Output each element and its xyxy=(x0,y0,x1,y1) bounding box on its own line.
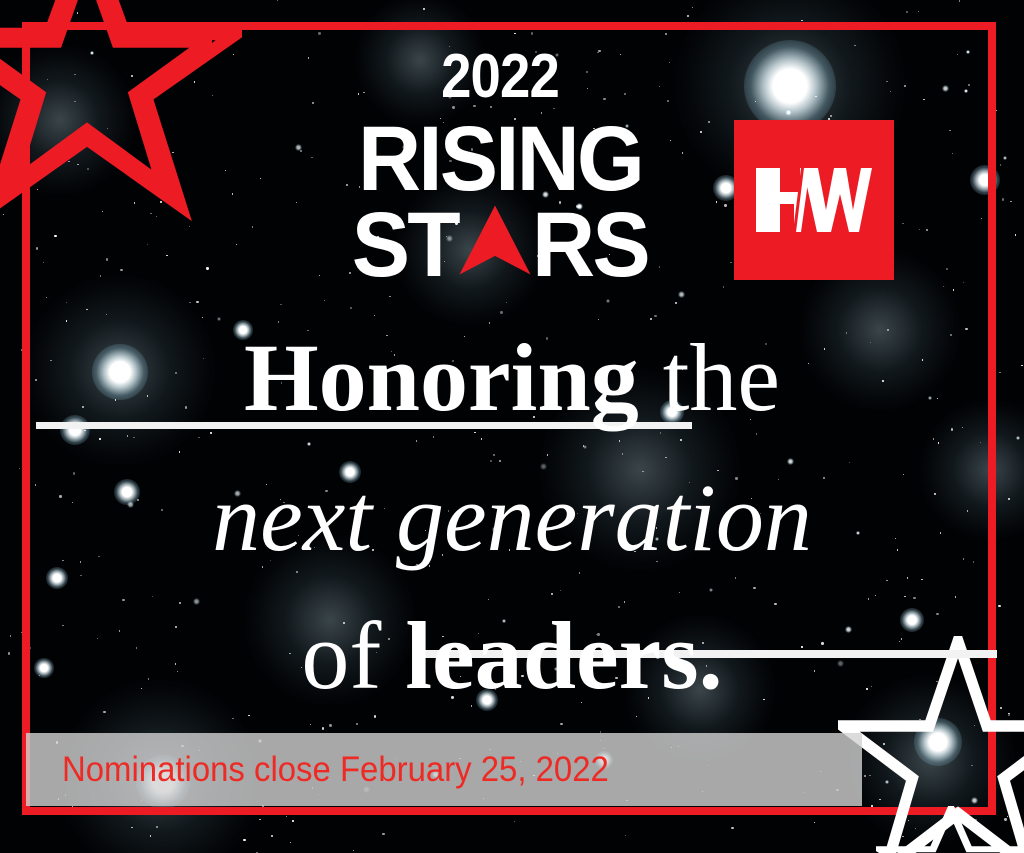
red-chevron-arrow-icon xyxy=(458,204,532,276)
nominations-deadline-text: Nominations close February 25, 2022 xyxy=(62,750,609,790)
stars-suffix: RS xyxy=(532,200,648,290)
tagline-line-3: of leaders. xyxy=(0,608,1024,704)
tagline-leaders: leaders. xyxy=(405,602,722,709)
nominations-banner: Nominations close February 25, 2022 xyxy=(26,733,862,806)
tagline-block: Honoring the next generation of leaders. xyxy=(0,330,1024,704)
tagline-line-1: Honoring the xyxy=(0,330,1024,426)
tagline-line-2: next generation xyxy=(0,470,1024,566)
tagline-the: the xyxy=(663,324,780,431)
hw-logo xyxy=(734,120,894,280)
white-star-outline-icon xyxy=(876,806,1024,853)
tagline-honoring: Honoring xyxy=(244,324,639,431)
rising-stars-promo-poster: 2022 RISING ST RS Honoring the next gene… xyxy=(0,0,1024,853)
stars-prefix: ST xyxy=(352,200,458,290)
tagline-next-generation: next generation xyxy=(212,464,812,571)
hw-logo-mark xyxy=(754,164,874,236)
year-label: 2022 xyxy=(39,46,961,108)
tagline-of: of xyxy=(301,602,381,709)
